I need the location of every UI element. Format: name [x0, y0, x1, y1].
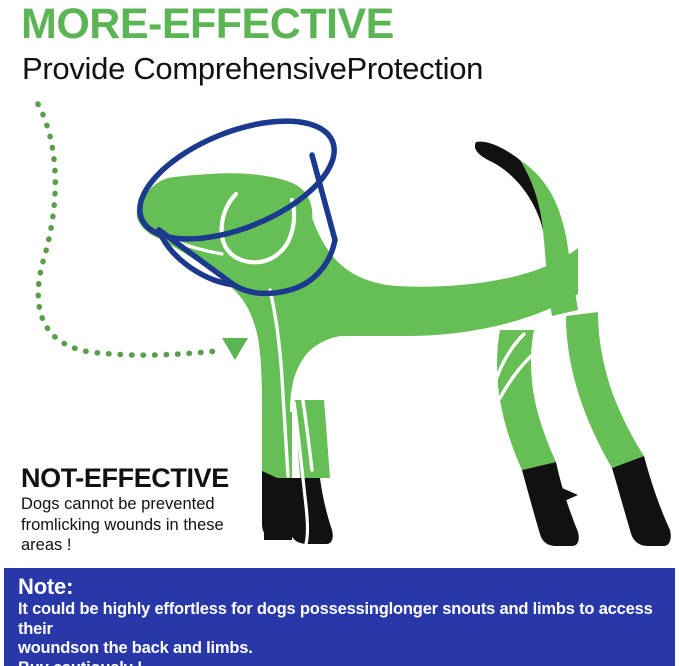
note-body: It could be highly effortless for dogs p…: [18, 600, 665, 666]
note-banner: Note: It could be highly effortless for …: [4, 568, 675, 666]
dog-tail-tip: [475, 142, 544, 240]
not-effective-body-text: Dogs cannot be prevented fromlicking wou…: [21, 494, 246, 556]
note-body-line-1: It could be highly effortless for dogs p…: [18, 600, 665, 639]
rear-paw-front: [522, 462, 579, 546]
dog-rear-leg-upper-back: [566, 312, 644, 468]
note-body-line-2: woundson the back and limbs.: [18, 639, 665, 658]
dotted-arrow-head-icon: [222, 338, 248, 360]
rear-paw-back: [612, 456, 671, 546]
infographic-page: MORE-EFFECTIVE Provide ComprehensiveProt…: [0, 0, 679, 666]
not-effective-heading: NOT-EFFECTIVE: [21, 463, 229, 494]
rear-paws: [522, 456, 671, 546]
dog-illustration: [0, 0, 679, 666]
note-title: Note:: [18, 574, 665, 599]
front-paw-fill: [264, 500, 286, 540]
dog-rear-leg-upper-front: [497, 330, 556, 470]
note-body-line-3: Buy cautiously !: [18, 659, 665, 666]
dog-body: [137, 142, 644, 480]
